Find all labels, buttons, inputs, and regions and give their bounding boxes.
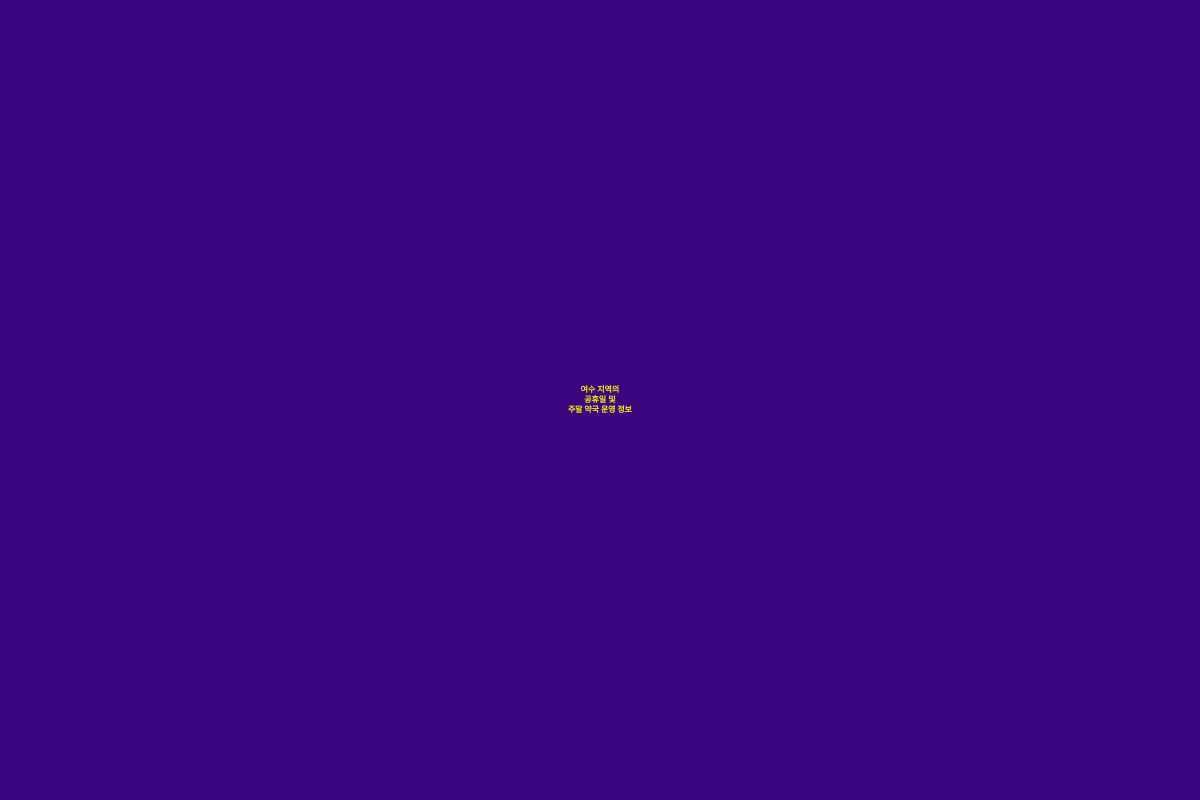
title-line-1: 여수 지역의 [0, 385, 1200, 395]
title-line-2: 공휴일 및 [0, 395, 1200, 405]
title-block: 여수 지역의 공휴일 및 주말 약국 운영 정보 [0, 385, 1200, 414]
title-line-3: 주말 약국 운영 정보 [0, 405, 1200, 415]
thumbnail-card: 여수 지역의 공휴일 및 주말 약국 운영 정보 [0, 0, 1200, 800]
